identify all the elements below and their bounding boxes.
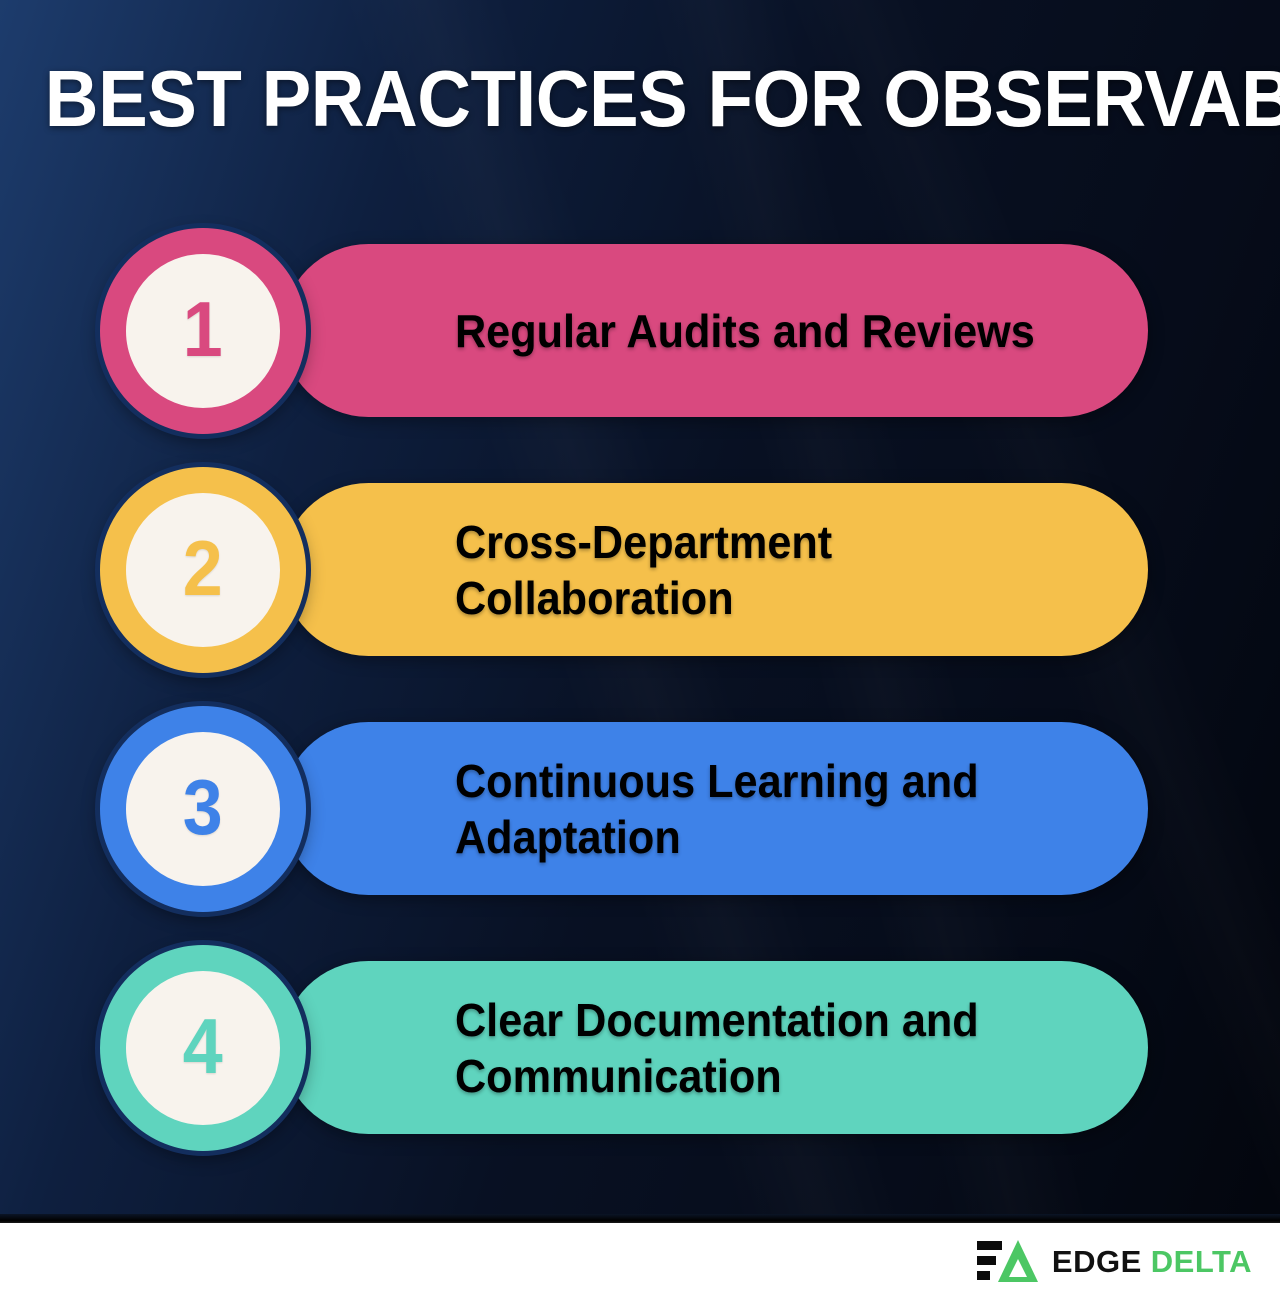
- list-item: Cross-Department Collaboration 2: [100, 467, 1180, 672]
- hero-bottom-divider: [0, 1214, 1280, 1223]
- step-badge-4: 4: [100, 945, 306, 1151]
- practice-pill-3[interactable]: Continuous Learning and Adaptation: [282, 722, 1148, 895]
- list-item: Regular Audits and Reviews 1: [100, 228, 1180, 433]
- practice-pill-1[interactable]: Regular Audits and Reviews: [282, 244, 1148, 417]
- practice-label-4: Clear Documentation and Communication: [282, 992, 1016, 1104]
- footer-bar: EDGE DELTA: [0, 1223, 1280, 1295]
- list-item: Clear Documentation and Communication 4: [100, 945, 1180, 1150]
- practice-label-1: Regular Audits and Reviews: [282, 303, 1072, 359]
- step-number-2: 2: [183, 529, 223, 607]
- triangle-icon: [997, 1239, 1039, 1283]
- brand-edge-text: EDGE: [1052, 1246, 1142, 1277]
- list-item: Continuous Learning and Adaptation 3: [100, 706, 1180, 911]
- step-number-3: 3: [183, 768, 223, 846]
- brand-delta-text: DELTA: [1151, 1246, 1252, 1277]
- step-number-1: 1: [183, 290, 223, 368]
- practice-pill-4[interactable]: Clear Documentation and Communication: [282, 961, 1148, 1134]
- practice-pill-2[interactable]: Cross-Department Collaboration: [282, 483, 1148, 656]
- infographic-poster: BEST PRACTICES FOR OBSERVABILITY Regular…: [0, 0, 1280, 1295]
- edge-delta-mark-icon: [977, 1239, 1039, 1283]
- step-badge-3: 3: [100, 706, 306, 912]
- step-badge-2: 2: [100, 467, 306, 673]
- practice-label-3: Continuous Learning and Adaptation: [282, 753, 1016, 865]
- page-title: BEST PRACTICES FOR OBSERVABILITY: [45, 56, 1235, 142]
- practice-label-2: Cross-Department Collaboration: [282, 514, 1096, 626]
- brand-logo[interactable]: EDGE DELTA: [977, 1239, 1252, 1283]
- step-badge-1: 1: [100, 228, 306, 434]
- brand-wordmark: EDGE DELTA: [1052, 1246, 1252, 1277]
- step-number-4: 4: [183, 1007, 223, 1085]
